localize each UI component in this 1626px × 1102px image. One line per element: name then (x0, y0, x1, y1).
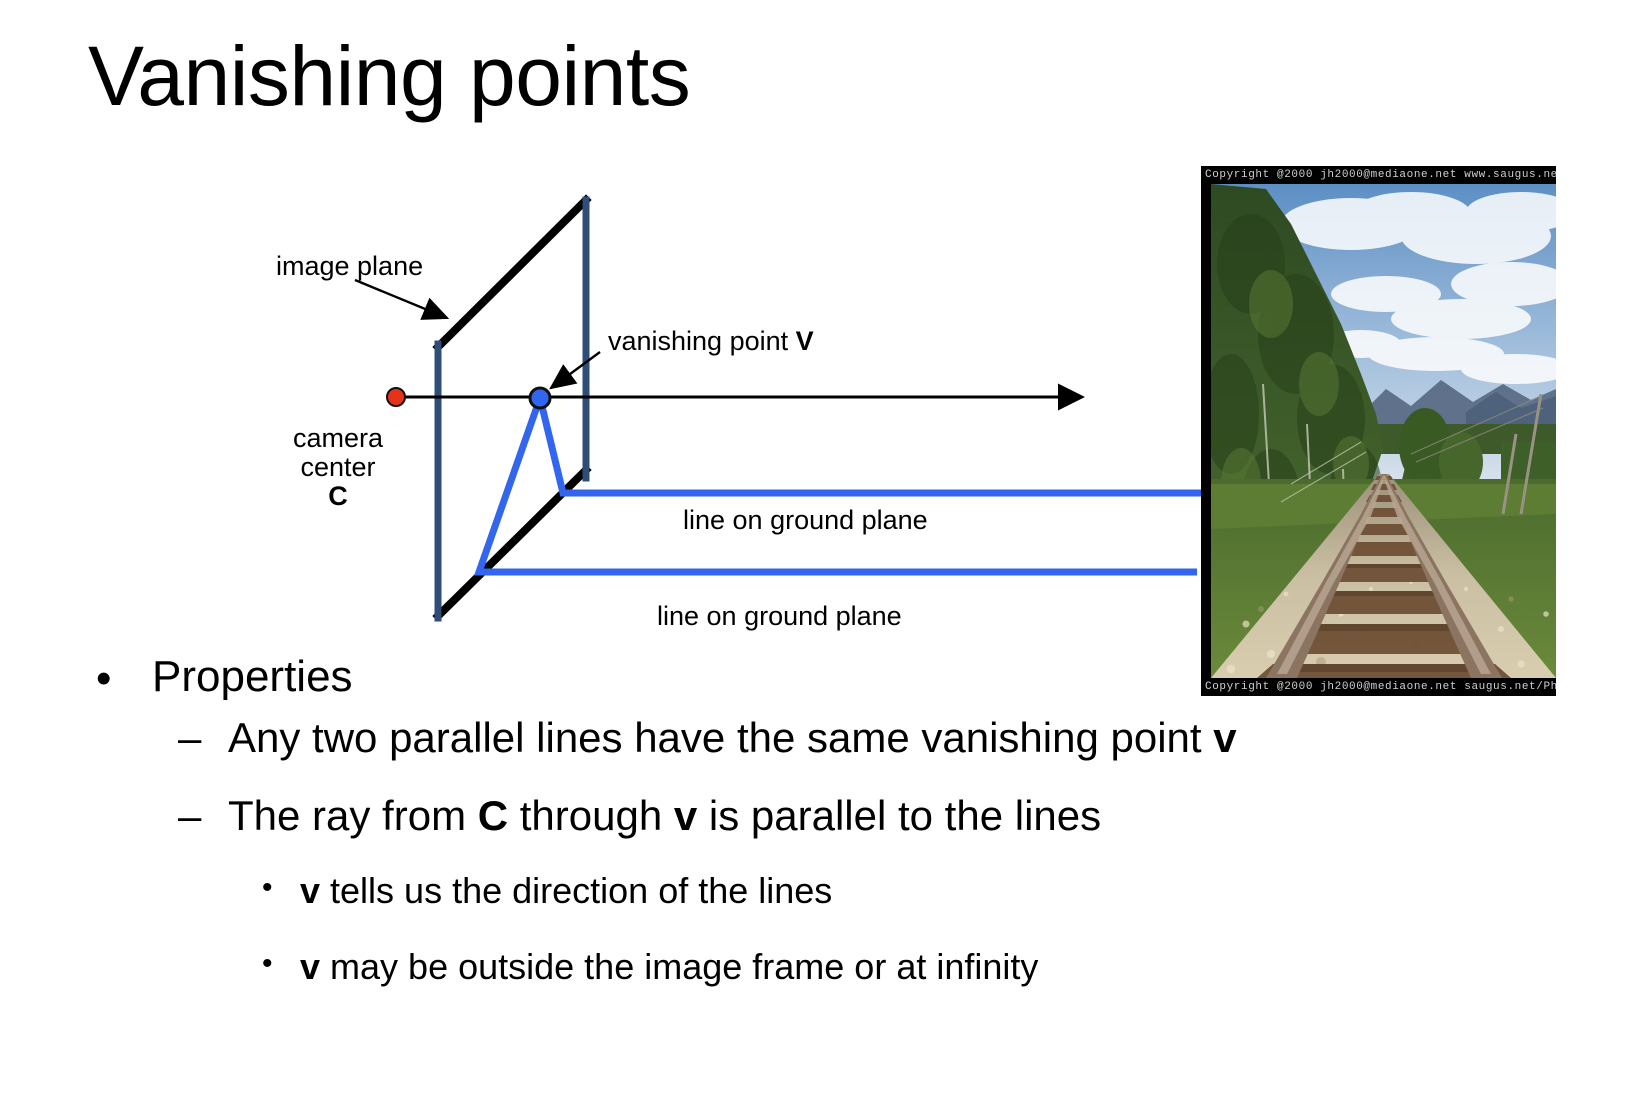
bullet-level2-1: – The ray from C through v is parallel t… (0, 795, 1520, 873)
bullet-level3-1-text: v may be outside the image frame or at i… (300, 949, 1038, 985)
bullet-marker-level2: – (178, 795, 201, 837)
camera-center-dot (387, 388, 405, 406)
bullet-level1: • Properties (0, 655, 1520, 717)
label-image-plane: image plane (276, 251, 423, 282)
label-camera-center-line1: camera (284, 424, 392, 453)
label-camera-center-line2: center (284, 453, 392, 482)
label-vanishing-point-symbol: V (796, 326, 814, 356)
label-camera-center-symbol: C (328, 481, 348, 511)
blue-ray-upper (540, 398, 1250, 493)
bullet-level2-0: – Any two parallel lines have the same v… (0, 717, 1520, 795)
plane-bottom-diagonal (438, 470, 586, 616)
photo-caption-top: Copyright @2000 jh2000@mediaone.net www.… (1201, 166, 1556, 184)
label-camera-center: camera center C (284, 424, 392, 511)
label-ground-line-1: line on ground plane (683, 505, 928, 536)
page-title: Vanishing points (88, 34, 690, 118)
label-ground-line-2: line on ground plane (657, 601, 902, 632)
railroad-photo: Copyright @2000 jh2000@mediaone.net www.… (1201, 166, 1556, 696)
bullet-level3-0: • v tells us the direction of the lines (0, 873, 1520, 949)
bullet-level1-text: Properties (152, 655, 353, 699)
blue-ray-lower (479, 398, 1197, 572)
vanishing-point-leader-arrow (551, 352, 600, 388)
bullet-marker-level2: – (178, 717, 201, 759)
bullet-marker-level3: • (262, 949, 273, 979)
slide-canvas: Vanishing points (0, 0, 1626, 1102)
vanishing-point-dot (530, 388, 550, 408)
bullet-level3-0-text: v tells us the direction of the lines (300, 873, 832, 909)
image-plane-leader-arrow (355, 280, 447, 318)
bullet-marker-level3: • (262, 873, 273, 903)
railroad-photo-image (1211, 184, 1556, 678)
bullet-level2-1-text: The ray from C through v is parallel to … (228, 795, 1101, 837)
bullet-level3-1: • v may be outside the image frame or at… (0, 949, 1520, 1025)
bullet-marker-level1: • (96, 657, 111, 701)
label-vanishing-point: vanishing point V (608, 326, 814, 357)
bullet-list: • Properties – Any two parallel lines ha… (0, 655, 1520, 1025)
bullet-level2-0-text: Any two parallel lines have the same van… (228, 717, 1237, 759)
plane-top-diagonal (438, 200, 586, 347)
label-vanishing-point-text: vanishing point (608, 326, 796, 356)
